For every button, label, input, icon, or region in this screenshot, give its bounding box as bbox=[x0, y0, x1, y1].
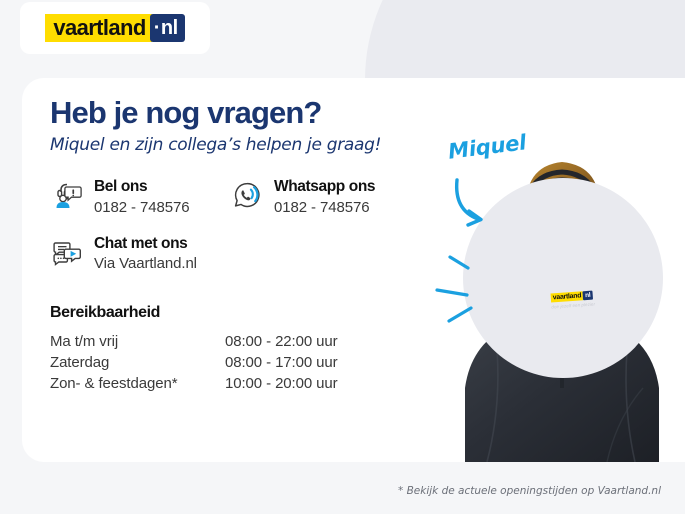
opening-hours-section: Bereikbaarheid Ma t/m vrij 08:00 - 22:00… bbox=[50, 304, 450, 394]
hours-day-saturday: Zaterdag bbox=[50, 352, 225, 373]
headset-person-icon bbox=[50, 178, 84, 212]
vaartland-logo[interactable]: vaartland ·nl bbox=[20, 2, 210, 54]
logo-dot-separator: · bbox=[154, 17, 160, 40]
logo-wordmark: vaartland bbox=[45, 14, 151, 42]
table-row: Ma t/m vrij 08:00 - 22:00 uur bbox=[50, 331, 338, 352]
contact-methods-grid: Bel ons 0182 - 748576 Whatsapp ons 0182 … bbox=[50, 177, 450, 274]
page-title: Heb je nog vragen? bbox=[50, 96, 450, 129]
opening-hours-title: Bereikbaarheid bbox=[50, 304, 450, 322]
chat-bubbles-icon bbox=[50, 235, 84, 269]
hours-day-sunday-holidays: Zon- & feestdagen* bbox=[50, 373, 225, 394]
card-content: Heb je nog vragen? Miquel en zijn colleg… bbox=[50, 96, 450, 394]
polo-logo-tld: nl bbox=[583, 291, 593, 301]
table-row: Zon- & feestdagen* 10:00 - 20:00 uur bbox=[50, 373, 338, 394]
polo-shirt-logo: vaartland nl doe jezelf een plezier bbox=[551, 290, 596, 309]
hours-day-weekdays: Ma t/m vrij bbox=[50, 331, 225, 352]
contact-value-chat: Via Vaartland.nl bbox=[94, 255, 197, 274]
page-subtitle: Miquel en zijn collega’s helpen je graag… bbox=[50, 135, 450, 155]
opening-hours-table: Ma t/m vrij 08:00 - 22:00 uur Zaterdag 0… bbox=[50, 331, 338, 394]
logo-tld-text: nl bbox=[161, 17, 178, 40]
contact-title-chat: Chat met ons bbox=[94, 235, 187, 252]
photo-backdrop-circle bbox=[463, 178, 663, 378]
polo-logo-word: vaartland bbox=[551, 291, 584, 302]
contact-item-chat[interactable]: Chat met ons Via Vaartland.nl bbox=[50, 234, 230, 274]
contact-title-whatsapp: Whatsapp ons bbox=[274, 178, 375, 195]
contact-value-call: 0182 - 748576 bbox=[94, 199, 189, 218]
contact-item-whatsapp[interactable]: Whatsapp ons 0182 - 748576 bbox=[230, 177, 410, 217]
contact-item-call[interactable]: Bel ons 0182 - 748576 bbox=[50, 177, 230, 217]
hours-time-saturday: 08:00 - 17:00 uur bbox=[225, 352, 338, 373]
hours-time-weekdays: 08:00 - 22:00 uur bbox=[225, 331, 338, 352]
table-row: Zaterdag 08:00 - 17:00 uur bbox=[50, 352, 338, 373]
hours-time-sunday-holidays: 10:00 - 20:00 uur bbox=[225, 373, 338, 394]
contact-value-whatsapp: 0182 - 748576 bbox=[274, 199, 375, 218]
whatsapp-icon bbox=[230, 178, 264, 212]
logo-tld-badge: ·nl bbox=[150, 14, 185, 42]
footnote-text: * Bekijk de actuele openingstijden op Va… bbox=[398, 485, 661, 497]
contact-title-call: Bel ons bbox=[94, 178, 147, 195]
